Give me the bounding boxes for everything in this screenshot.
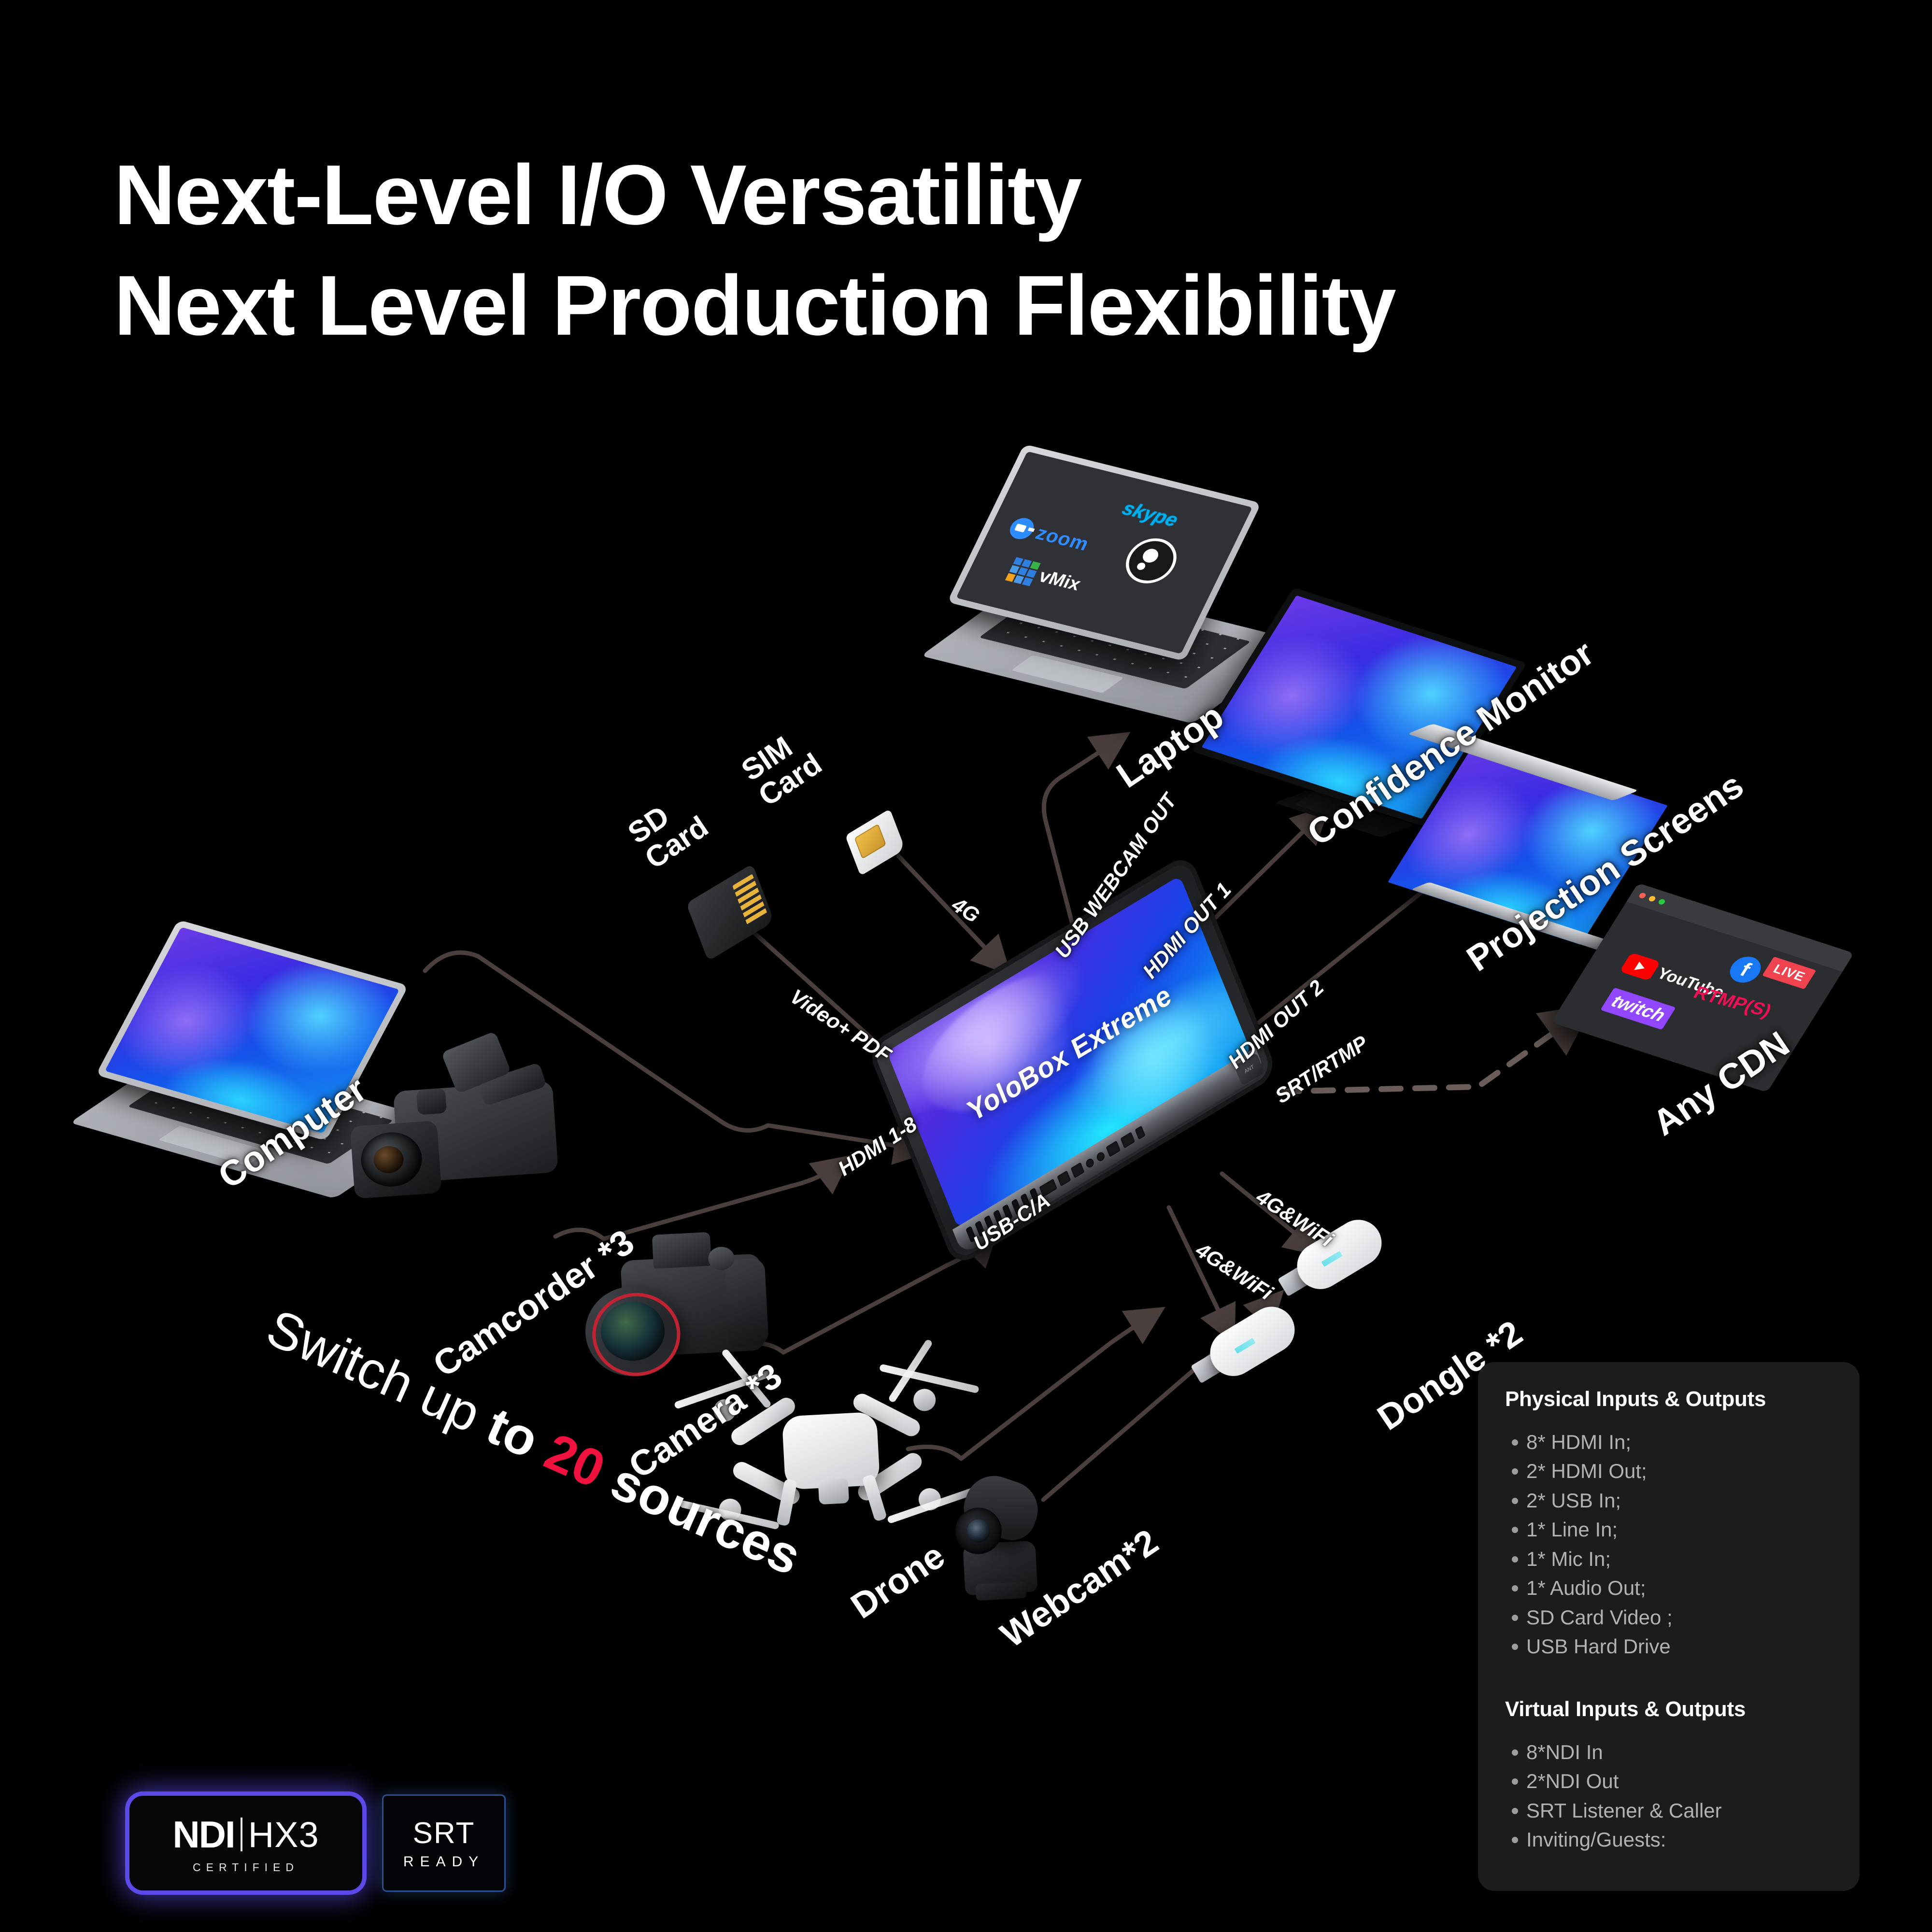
audio-jack xyxy=(1085,1157,1095,1169)
camcorder-mic xyxy=(416,1088,447,1115)
close-icon[interactable] xyxy=(1638,892,1647,899)
laptop-destination[interactable]: zoom skype vMix xyxy=(966,461,1275,722)
virtual-io-list: 8*NDI In2*NDI OutSRT Listener & CallerIn… xyxy=(1505,1738,1833,1855)
rtmp-label: RTMP(S) xyxy=(1690,983,1775,1022)
mic-jack xyxy=(1095,1151,1106,1163)
zoom-label: zoom xyxy=(1032,523,1093,555)
cdn-logo-grid: YouTube f LIVE RTMP(S) twitch xyxy=(1551,902,1842,1093)
ndi-divider-icon xyxy=(241,1818,242,1851)
ndi-hx-label: HX3 xyxy=(248,1814,319,1855)
facebook-icon: f xyxy=(1725,953,1767,986)
virtual-io-item: Inviting/Guests: xyxy=(1526,1825,1833,1854)
webcam-foot xyxy=(976,1582,1027,1601)
vmix-icon: vMix xyxy=(1005,557,1085,597)
vmix-label: vMix xyxy=(1035,566,1084,595)
certification-badges: NDI HX3 CERTIFIED SRT READY xyxy=(129,1796,504,1890)
usb-c-port xyxy=(1120,1132,1135,1148)
usb-c-port xyxy=(1106,1141,1121,1157)
camera-grip xyxy=(725,1258,769,1347)
sim-chip-glyph xyxy=(854,824,886,859)
ndi-wordmark: NDI HX3 xyxy=(172,1813,319,1857)
srt-ready-badge: SRT READY xyxy=(384,1796,504,1890)
physical-io-list: 8* HDMI In;2* HDMI Out;2* USB In;1* Line… xyxy=(1505,1428,1833,1662)
virtual-io-item: SRT Listener & Caller xyxy=(1526,1796,1833,1825)
usb-port xyxy=(1057,1170,1071,1186)
usb-port xyxy=(1071,1162,1085,1178)
sd-card-slot xyxy=(1135,1126,1145,1140)
physical-io-item: 1* Audio Out; xyxy=(1526,1574,1833,1603)
camera-prism xyxy=(652,1232,711,1269)
obs-icon xyxy=(1118,533,1185,588)
physical-io-item: 2* HDMI Out; xyxy=(1526,1457,1833,1486)
diagram-canvas: Next-Level I/O Versatility Next Level Pr… xyxy=(0,0,1932,1932)
virtual-io-item: 2*NDI Out xyxy=(1526,1767,1833,1796)
vmix-grid-glyph xyxy=(1005,557,1041,586)
physical-io-item: 1* Line In; xyxy=(1526,1515,1833,1544)
physical-io-item: USB Hard Drive xyxy=(1526,1632,1833,1661)
virtual-io-item: 8*NDI In xyxy=(1526,1738,1833,1767)
ndi-certified-label: CERTIFIED xyxy=(193,1861,299,1874)
drone-motor xyxy=(913,1388,936,1411)
cdn-browser-frame: YouTube f LIVE RTMP(S) twitch xyxy=(1551,883,1854,1093)
zoom-camera-glyph xyxy=(1006,516,1037,541)
skype-icon: skype xyxy=(1119,498,1181,531)
drone-gimbal-camera xyxy=(818,1478,849,1505)
virtual-io-title: Virtual Inputs & Outputs xyxy=(1505,1697,1833,1721)
physical-io-title: Physical Inputs & Outputs xyxy=(1505,1387,1833,1411)
physical-io-item: 2* USB In; xyxy=(1526,1486,1833,1515)
physical-io-item: SD Card Video ; xyxy=(1526,1603,1833,1632)
camcorder-source[interactable] xyxy=(331,1020,597,1245)
srt-main-label: SRT xyxy=(413,1816,475,1850)
ndi-hx3-badge: NDI HX3 CERTIFIED xyxy=(129,1796,362,1890)
maximize-icon[interactable] xyxy=(1657,898,1666,905)
io-spec-panel: Physical Inputs & Outputs 8* HDMI In;2* … xyxy=(1478,1362,1860,1891)
physical-io-item: 8* HDMI In; xyxy=(1526,1428,1833,1457)
minimize-icon[interactable] xyxy=(1648,895,1657,902)
twitch-icon: twitch xyxy=(1600,988,1676,1030)
ndi-main-label: NDI xyxy=(172,1813,234,1857)
youtube-play-glyph xyxy=(1619,952,1660,981)
srt-ready-label: READY xyxy=(403,1854,484,1870)
live-badge: LIVE xyxy=(1762,957,1816,990)
zoom-icon: zoom xyxy=(1006,516,1093,555)
physical-io-item: 1* Mic In; xyxy=(1526,1545,1833,1574)
